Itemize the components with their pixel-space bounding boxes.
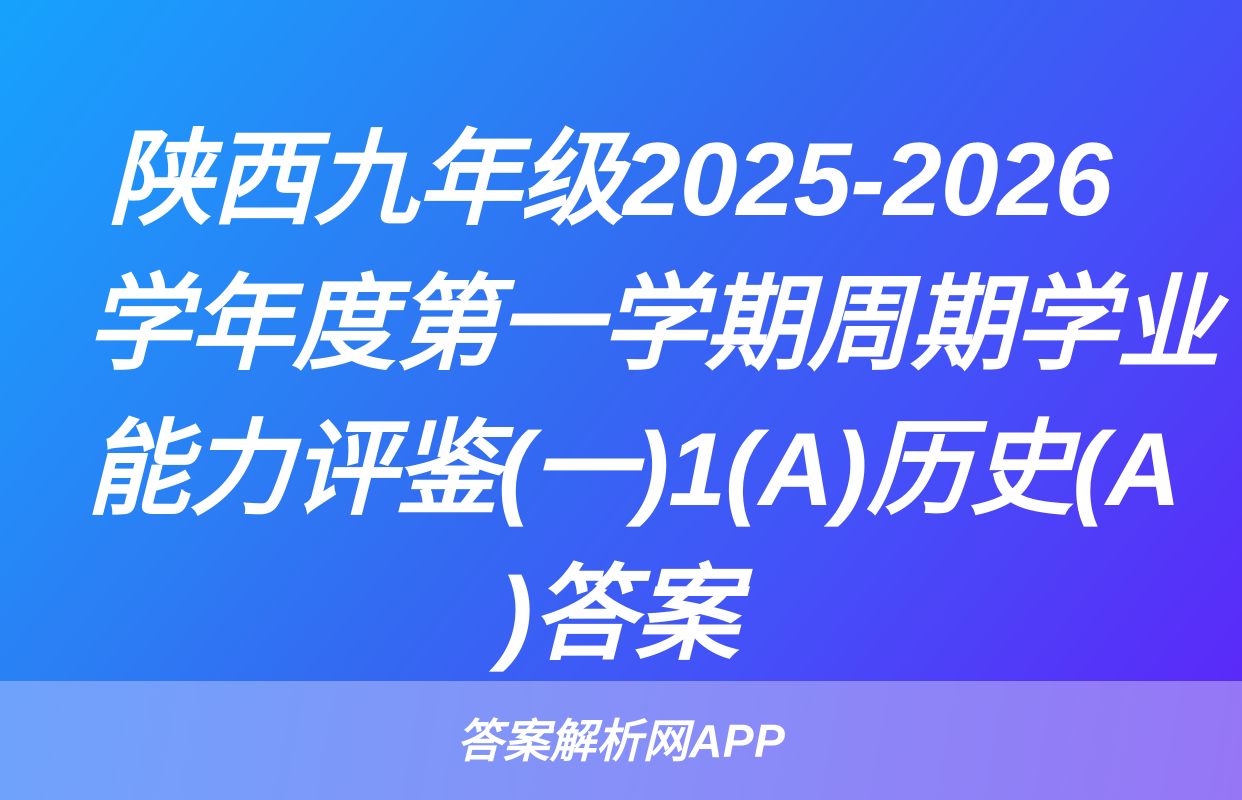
title-line-4: )答案	[108, 543, 1164, 688]
promo-card: 陕西九年级2025-2026 学年度第一学期周期学业 能力评鉴(一)1(A)历史…	[0, 0, 1242, 800]
title-line-3: 能力评鉴(一)1(A)历史(A	[108, 398, 1164, 543]
title-block: 陕西九年级2025-2026 学年度第一学期周期学业 能力评鉴(一)1(A)历史…	[0, 0, 1242, 681]
title-line-1: 陕西九年级2025-2026	[108, 108, 1164, 253]
title-line-2: 学年度第一学期周期学业	[108, 253, 1164, 398]
app-promo-banner[interactable]: 答案解析网APP	[0, 681, 1242, 800]
app-promo-label: 答案解析网APP	[457, 716, 786, 766]
